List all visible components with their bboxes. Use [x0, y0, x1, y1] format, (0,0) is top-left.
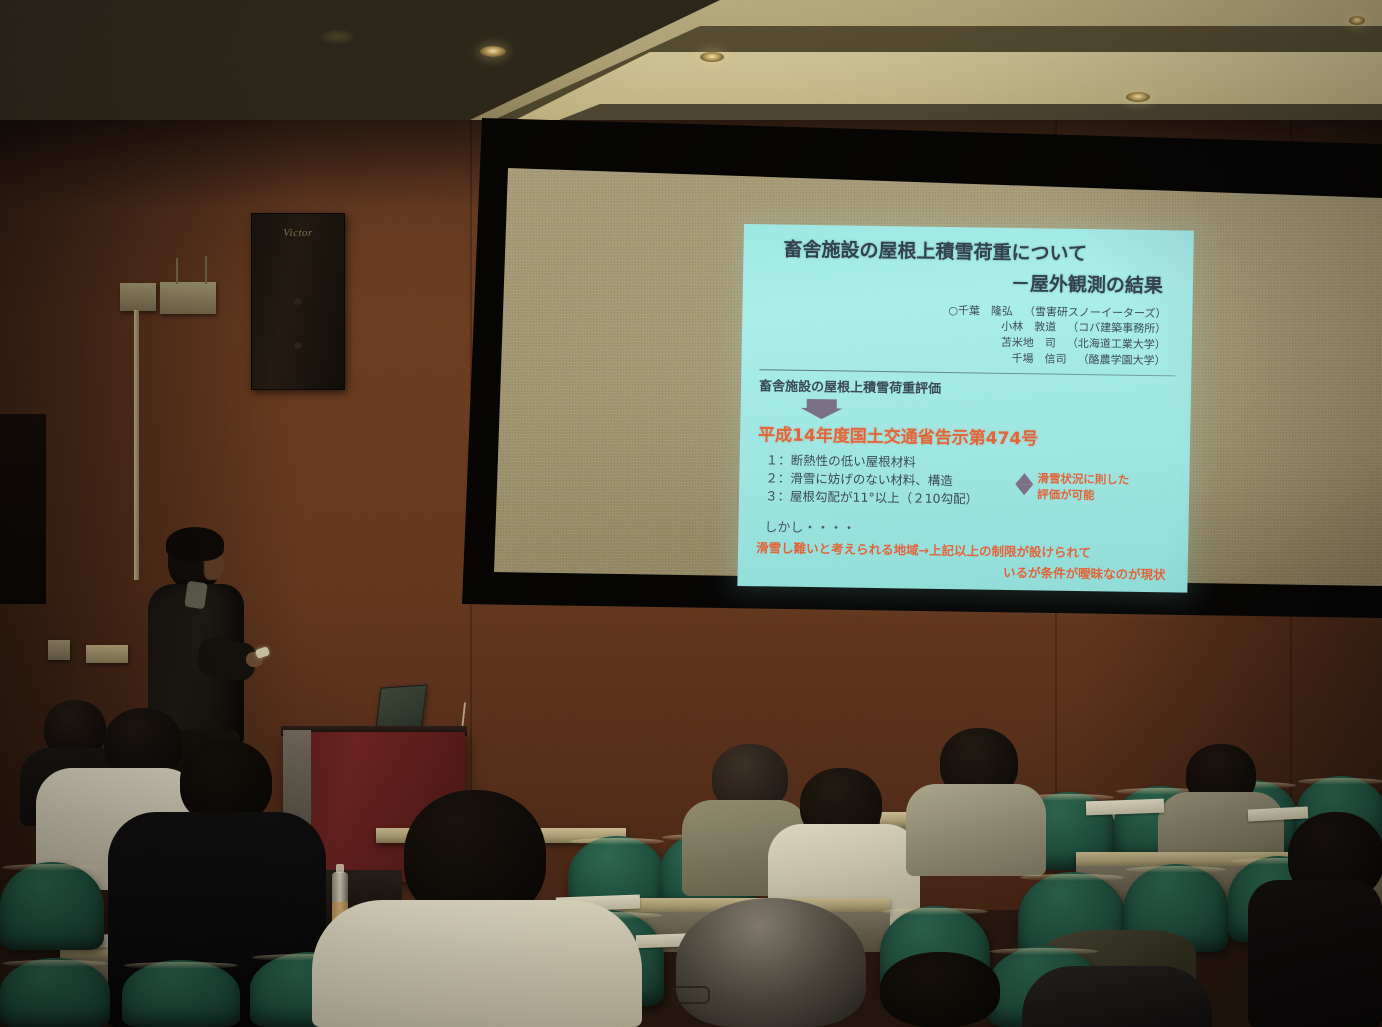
- author-name: 小林 敦道: [1001, 319, 1067, 336]
- person-head: [880, 952, 1000, 1027]
- slide-warning-line-2: いるが条件が曖昧なのが現状: [756, 560, 1172, 584]
- slide-subtitle: －屋外観測の結果: [761, 265, 1163, 298]
- desk-paper: [1086, 799, 1164, 816]
- slide-headline: 平成14年度国土交通省告示第474号: [758, 420, 1174, 451]
- ceiling-downlight-1: [320, 30, 354, 44]
- slide-however-text: しかし・・・・: [764, 516, 1172, 541]
- slide-side-note: 滑雪状況に則した 評価が可能: [1037, 472, 1170, 505]
- slide-author-list: ○千葉 隆弘（雪害研スノーイーターズ） 小林 敦道（コバ建築事務所） 苫米地 司…: [759, 300, 1176, 369]
- slide-condition-list: １：断熱性の低い屋根材料 ２：滑雪に妨げのない材料、構造 ３：屋根勾配が11°以…: [757, 451, 1174, 512]
- ceiling-thin-rod-1: [176, 258, 178, 284]
- loudspeaker-cabinet: Victor: [251, 213, 345, 390]
- ceiling-downlight-3: [700, 52, 724, 62]
- side-note-line-1: 滑雪状況に則した: [1037, 472, 1169, 489]
- wall-plate-large: [160, 282, 216, 314]
- auditorium-photo: Victor 畜舎施設の屋根上積雪荷重について －屋外観測の結果 ○千葉 隆弘（…: [0, 0, 1382, 1027]
- presenter-hair: [166, 527, 224, 561]
- slide-section-label: 畜舎施設の屋根上積雪荷重評価: [759, 375, 1175, 400]
- author-affiliation: （コバ建築事務所）: [1067, 321, 1166, 335]
- person-torso: [312, 900, 642, 1027]
- ceiling-downlight-2: [480, 46, 506, 57]
- seat-empty: [0, 958, 110, 1027]
- person-head: [676, 898, 866, 1027]
- projected-slide: 畜舎施設の屋根上積雪荷重について －屋外観測の結果 ○千葉 隆弘（雪害研スノーイ…: [737, 224, 1194, 593]
- eyeglasses: [672, 986, 710, 1004]
- down-arrow-icon: [800, 399, 842, 420]
- person-torso: [906, 784, 1046, 876]
- speaker-cone-upper: [295, 298, 302, 305]
- speaker-cone-lower: [295, 342, 302, 349]
- wall-plate-small: [120, 283, 156, 311]
- slide-title: 畜舎施設の屋根上積雪荷重について: [783, 239, 1177, 269]
- author-affiliation: （酪農学園大学）: [1077, 353, 1165, 367]
- seat-empty: [0, 862, 104, 950]
- person-torso: [1022, 966, 1212, 1027]
- author-name: 千葉 隆弘: [958, 303, 1024, 320]
- seat-empty: [122, 960, 240, 1027]
- author-affiliation: （北海道工業大学）: [1067, 337, 1166, 351]
- laser-pointer: [255, 646, 270, 659]
- author-name: 千場 信司: [1011, 351, 1077, 368]
- side-note-line-2: 評価が可能: [1037, 487, 1169, 504]
- ceiling-downlight-5: [1349, 16, 1365, 25]
- presenter-collar: [184, 581, 207, 610]
- person-torso: [1248, 880, 1382, 1027]
- speaker-brand-label: Victor: [252, 227, 344, 239]
- wall-hanging-rod: [134, 310, 139, 580]
- wall-switch-panel: [86, 645, 128, 663]
- author-affiliation: （雪害研スノーイーターズ）: [1024, 305, 1167, 320]
- ceiling-downlight-4: [1126, 92, 1150, 102]
- author-name: 苫米地 司: [1001, 335, 1067, 352]
- author-marker: ○: [948, 304, 958, 317]
- wall-alcove: [0, 414, 46, 604]
- ceiling-thin-rod-2: [205, 256, 207, 284]
- slide-warning-line-1: 滑雪し難いと考えられる地域→上記以上の制限が設けられて: [756, 539, 1172, 563]
- wall-outlet-panel: [48, 640, 70, 660]
- right-arrow-icon: [1015, 473, 1033, 484]
